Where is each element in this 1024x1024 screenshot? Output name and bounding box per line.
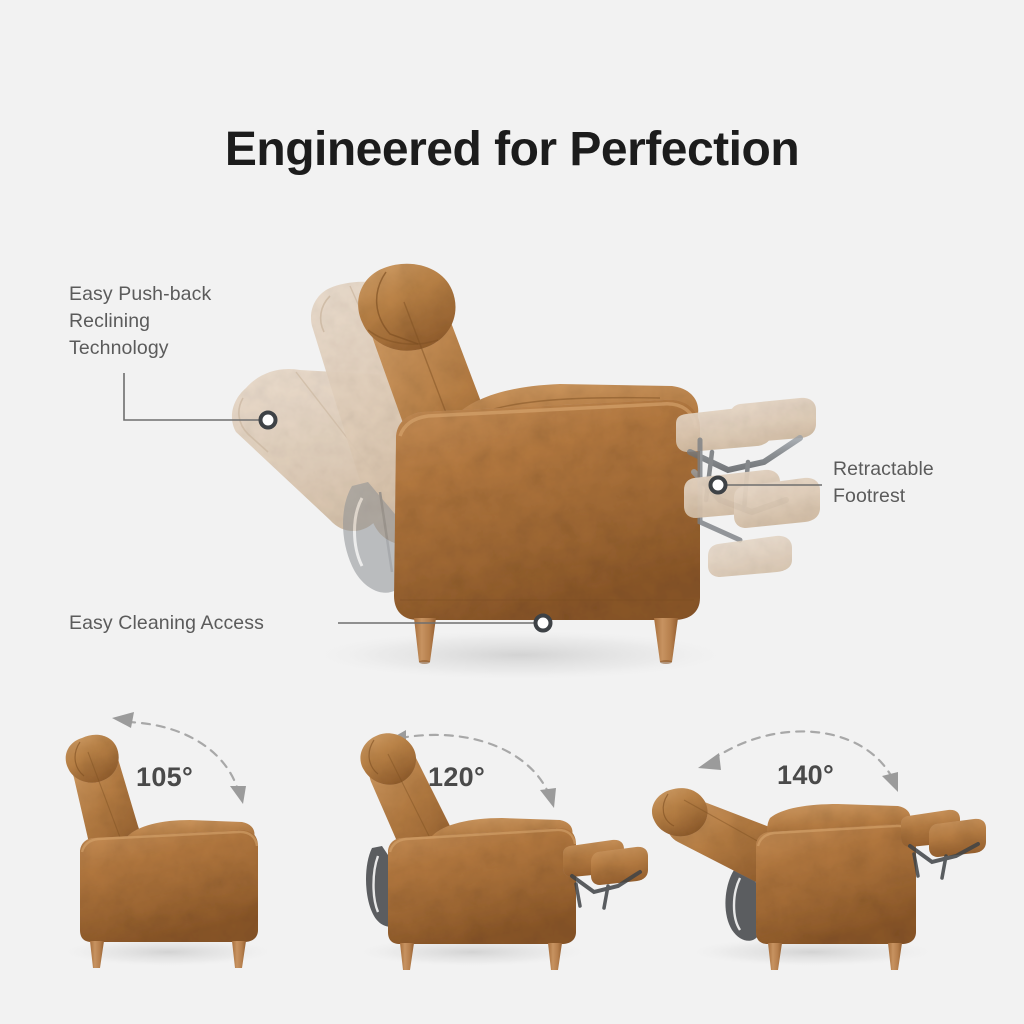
- recline-stage-105: [58, 712, 278, 968]
- product-illustration: [0, 0, 1024, 1024]
- annotation-label-easy-cleaning-access: Easy Cleaning Access: [69, 610, 369, 637]
- leader-dot-pushback: [261, 413, 276, 428]
- annotation-label-push-back-reclining: Easy Push-back Reclining Technology: [69, 281, 309, 362]
- leader-dot-cleaning: [536, 616, 551, 631]
- recline-stage-120: [352, 730, 648, 970]
- annotation-label-retractable-footrest: Retractable Footrest: [833, 456, 1013, 510]
- angle-label-140: 140°: [777, 760, 834, 791]
- angle-label-105: 105°: [136, 762, 193, 793]
- infographic-page: Engineered for Perfection: [0, 0, 1024, 1024]
- hero-side-panel: [394, 400, 700, 620]
- angle-label-120: 120°: [428, 762, 485, 793]
- leader-dot-footrest: [711, 478, 726, 493]
